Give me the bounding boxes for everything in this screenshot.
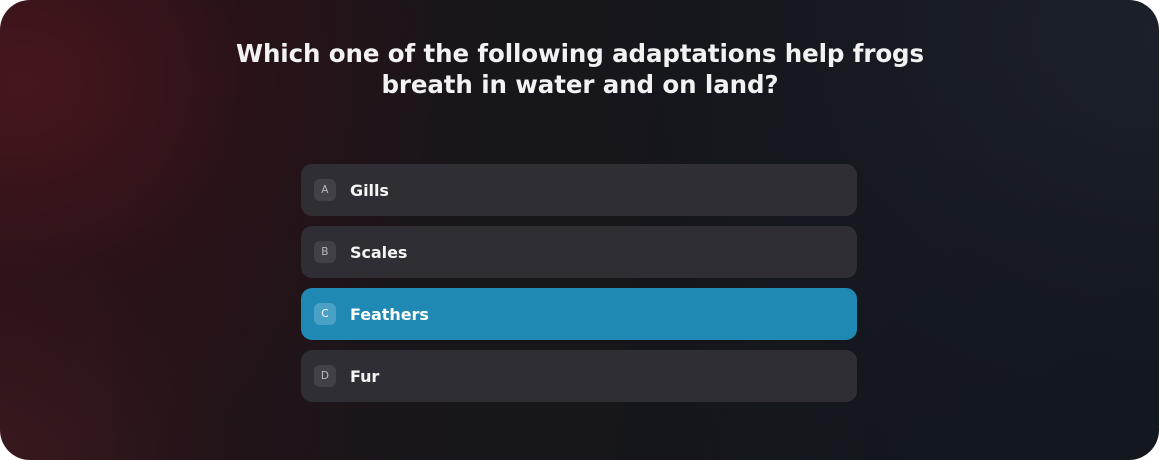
option-label-b: Scales — [350, 243, 407, 262]
option-label-c: Feathers — [350, 305, 429, 324]
option-letter-badge-d: D — [314, 365, 336, 387]
option-letter-badge-a: A — [314, 179, 336, 201]
answer-options-list: A Gills B Scales C Feathers D Fur — [301, 164, 857, 402]
quiz-card: Which one of the following adaptations h… — [0, 0, 1159, 460]
question-title: Which one of the following adaptations h… — [180, 38, 980, 100]
option-letter-badge-c: C — [314, 303, 336, 325]
answer-option-b[interactable]: B Scales — [301, 226, 857, 278]
option-letter-badge-b: B — [314, 241, 336, 263]
answer-option-d[interactable]: D Fur — [301, 350, 857, 402]
answer-option-c[interactable]: C Feathers — [301, 288, 857, 340]
option-label-a: Gills — [350, 181, 389, 200]
option-label-d: Fur — [350, 367, 379, 386]
answer-option-a[interactable]: A Gills — [301, 164, 857, 216]
quiz-content: Which one of the following adaptations h… — [0, 0, 1159, 460]
